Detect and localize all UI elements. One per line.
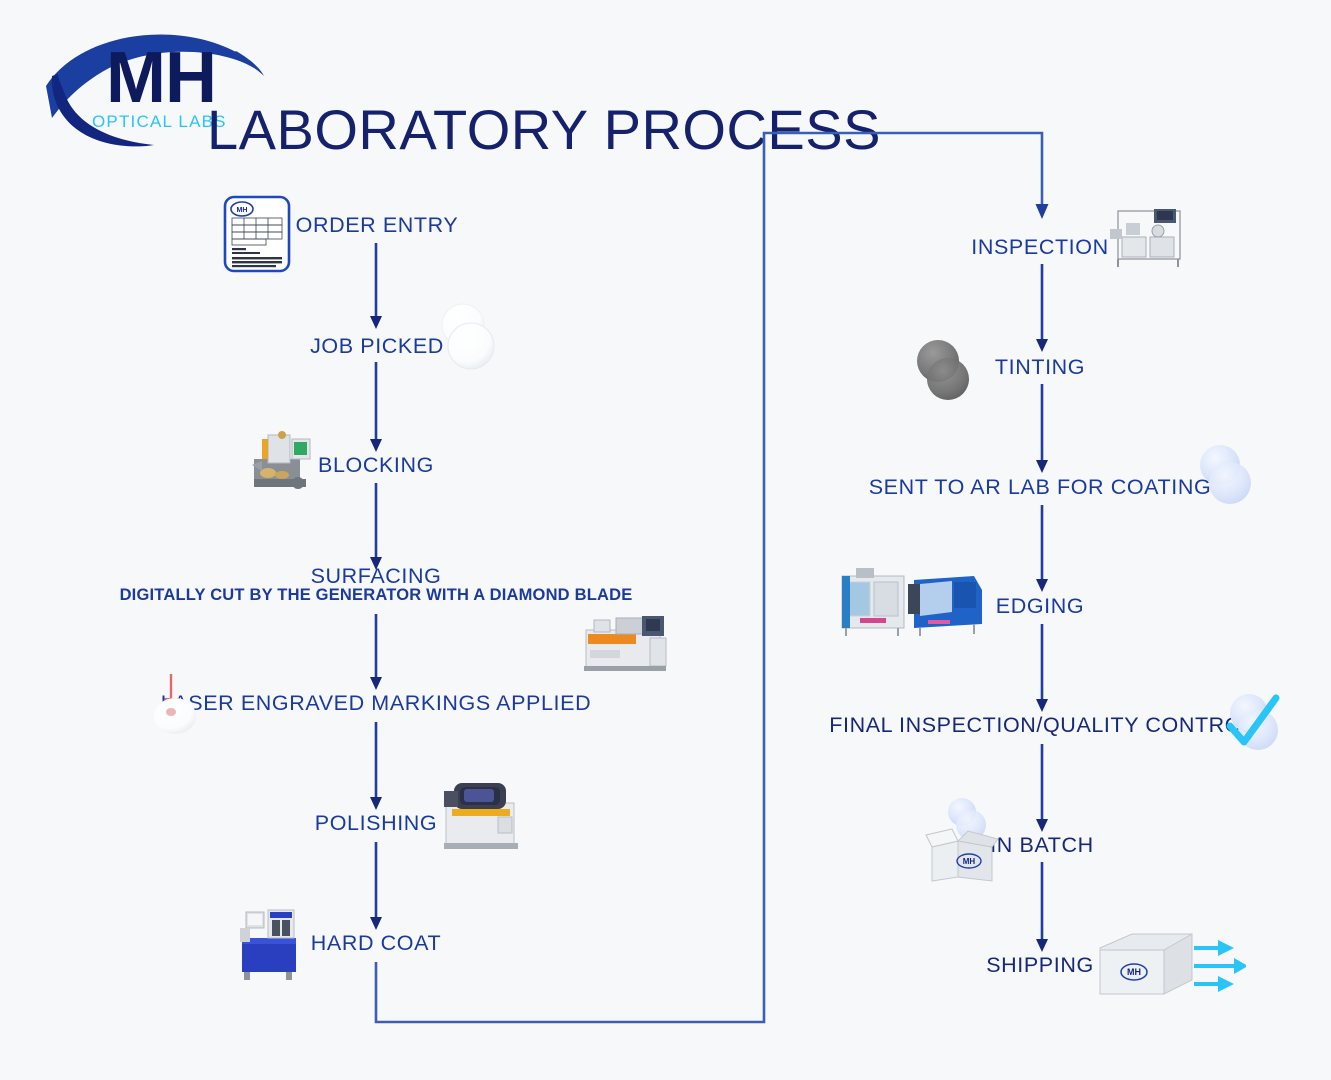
svg-text:MH: MH <box>237 207 248 214</box>
blocking-machine-icon <box>248 429 320 491</box>
flowchart-canvas: MH OPTICAL LABS LABORATORY PROCESS <box>0 0 1331 1080</box>
step-label-inspection: INSPECTION <box>971 235 1108 260</box>
step-label-order-entry: ORDER ENTRY <box>296 213 459 238</box>
step-label-tinting: TINTING <box>995 355 1085 380</box>
step-label-hard-coat: HARD COAT <box>311 931 441 956</box>
svg-text:MH: MH <box>1127 967 1141 977</box>
step-label-ar-coating: SENT TO AR LAB FOR COATING <box>869 475 1212 500</box>
tinted-lenses-icon <box>912 338 980 404</box>
hardcoat-machine-icon <box>232 906 310 982</box>
step-label-polishing: POLISHING <box>315 811 438 836</box>
flow-connectors <box>0 0 1331 1080</box>
shipping-box-icon: MH <box>1096 930 1246 1002</box>
ar-lenses-icon <box>1196 443 1262 507</box>
clear-lenses-icon <box>437 302 501 372</box>
laser-lens-icon <box>146 674 204 736</box>
svg-text:MH: MH <box>963 857 976 866</box>
generator-machine-icon <box>580 612 678 674</box>
step-label-in-batch: IN BATCH <box>990 833 1094 858</box>
edging-machines-icon <box>836 562 988 640</box>
polishing-machine-icon <box>440 779 526 853</box>
step-label-blocking: BLOCKING <box>318 453 434 478</box>
checkmark-lens-icon <box>1222 692 1288 756</box>
step-label-final-inspection: FINAL INSPECTION/QUALITY CONTROL <box>829 713 1254 738</box>
step-sublabel-surfacing: DIGITALLY CUT BY THE GENERATOR WITH A DI… <box>120 586 633 605</box>
order-form-icon: MH <box>222 194 298 276</box>
step-label-edging: EDGING <box>996 594 1084 619</box>
open-box-icon: MH <box>924 795 1002 885</box>
step-label-laser-engraving: LASER ENGRAVED MARKINGS APPLIED <box>161 691 591 716</box>
inspection-machine-icon <box>1106 201 1190 273</box>
step-label-job-picked: JOB PICKED <box>310 334 444 359</box>
step-label-shipping: SHIPPING <box>986 953 1094 978</box>
